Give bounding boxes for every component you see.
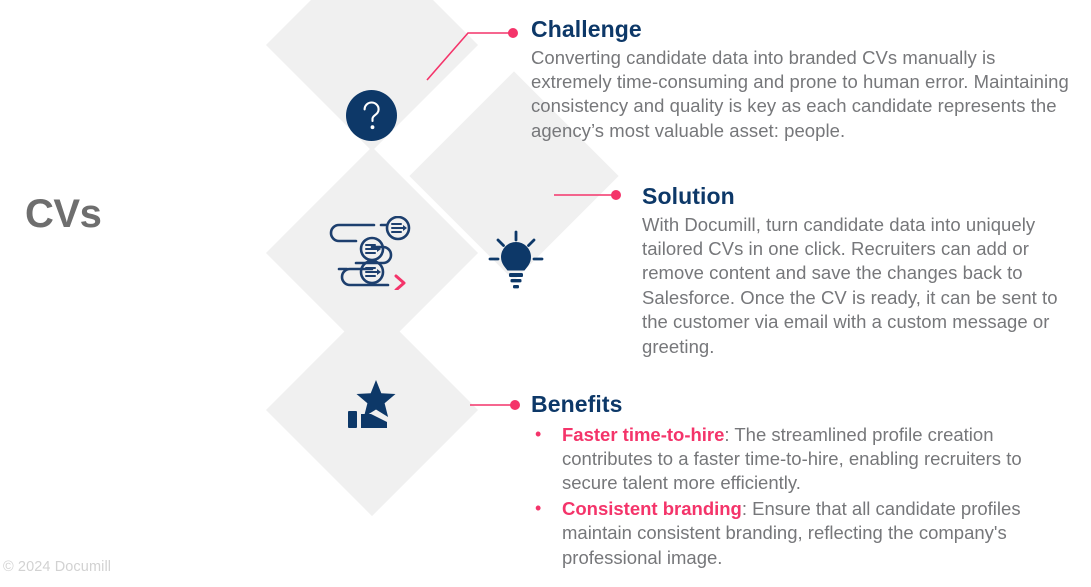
question-mark-circle-icon: [346, 90, 397, 141]
challenge-heading: Challenge: [531, 16, 1081, 44]
benefit-lead: Faster time-to-hire: [562, 424, 724, 445]
award-star-icon: [345, 378, 401, 430]
section-challenge: Challenge Converting candidate data into…: [531, 16, 1081, 143]
section-solution: Solution With Documill, turn candidate d…: [642, 183, 1082, 359]
workflow-process-icon: [326, 216, 416, 290]
connector-line-challenge: [425, 20, 520, 82]
benefits-heading: Benefits: [531, 391, 1081, 419]
section-benefits: Benefits • Faster time-to-hire: The stre…: [531, 391, 1081, 571]
lightbulb-icon: [487, 228, 545, 292]
bullet-marker: •: [535, 423, 541, 447]
solution-heading: Solution: [642, 183, 1082, 211]
benefits-list: • Faster time-to-hire: The streamlined p…: [531, 423, 1081, 570]
solution-body: With Documill, turn candidate data into …: [642, 213, 1082, 359]
benefit-lead: Consistent branding: [562, 498, 742, 519]
challenge-body: Converting candidate data into branded C…: [531, 46, 1081, 144]
bullet-marker: •: [535, 497, 541, 521]
connector-line-solution: [554, 188, 624, 202]
connector-line-benefits: [470, 398, 524, 412]
page-title: CVs: [25, 194, 101, 234]
list-item: • Consistent branding: Ensure that all c…: [531, 497, 1081, 570]
copyright-footer: © 2024 Documill: [3, 559, 111, 575]
list-item: • Faster time-to-hire: The streamlined p…: [531, 423, 1081, 496]
